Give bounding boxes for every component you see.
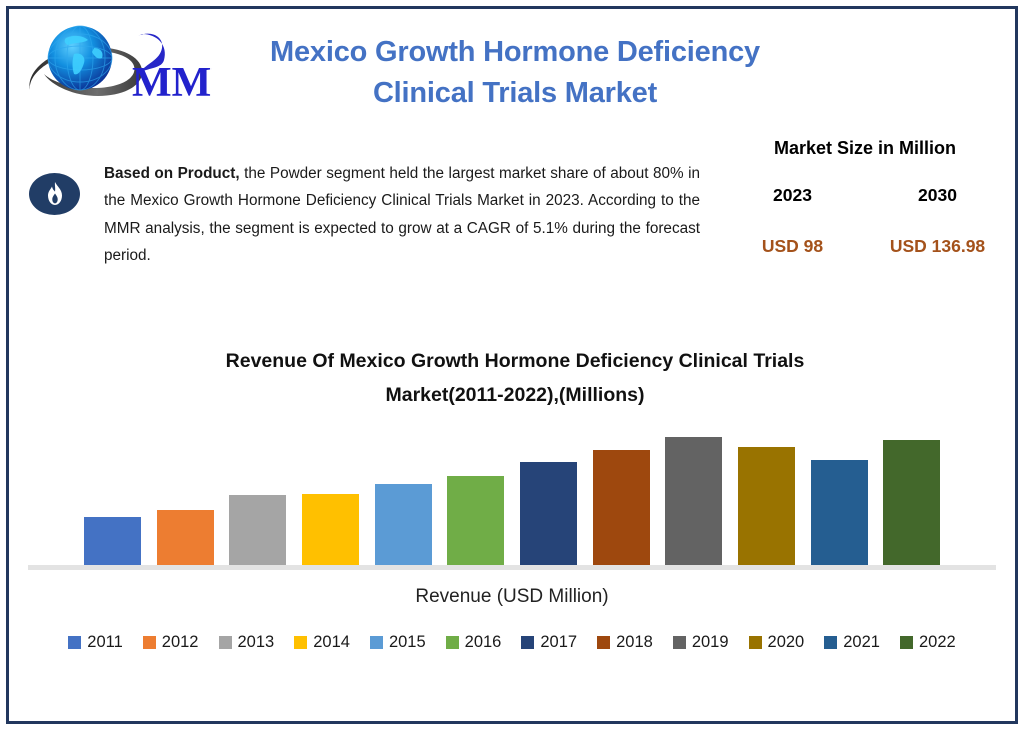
legend-label: 2013 — [238, 633, 275, 652]
legend-label: 2018 — [616, 633, 653, 652]
market-size-column-2030: 2030 USD 136.98 — [865, 185, 1010, 257]
bar-2014[interactable] — [302, 494, 359, 565]
bar-slot — [585, 430, 658, 565]
bar-slot — [875, 430, 948, 565]
legend-swatch-icon — [824, 636, 837, 649]
chart-title-line2: Market(2011-2022),(Millions) — [120, 379, 910, 413]
infographic-page: MMR Mexico Growth Hormone Deficiency Cli… — [0, 0, 1024, 730]
legend-label: 2012 — [162, 633, 199, 652]
legend-swatch-icon — [673, 636, 686, 649]
bar-slot — [294, 430, 367, 565]
chart-title: Revenue Of Mexico Growth Hormone Deficie… — [120, 345, 910, 412]
market-size-column-2023: 2023 USD 98 — [720, 185, 865, 257]
bar-slot — [657, 430, 730, 565]
bar-2011[interactable] — [84, 517, 141, 565]
flame-glyph — [44, 181, 66, 207]
page-title: Mexico Growth Hormone Deficiency Clinica… — [232, 32, 798, 114]
bar-2019[interactable] — [665, 437, 722, 565]
page-title-line1: Mexico Growth Hormone Deficiency — [232, 32, 798, 73]
legend-item-2020[interactable]: 2020 — [749, 633, 805, 652]
chart-x-axis-label: Revenue (USD Million) — [0, 586, 1024, 608]
chart-title-line1: Revenue Of Mexico Growth Hormone Deficie… — [120, 345, 910, 379]
bar-series — [28, 430, 996, 565]
bar-slot — [512, 430, 585, 565]
globe-swoosh-icon: MMR — [22, 18, 212, 114]
legend-label: 2021 — [843, 633, 880, 652]
bar-2015[interactable] — [375, 484, 432, 565]
bar-chart-plot — [28, 430, 996, 570]
bar-slot — [730, 430, 803, 565]
legend-swatch-icon — [900, 636, 913, 649]
market-size-heading: Market Size in Million — [720, 138, 1010, 159]
legend-swatch-icon — [749, 636, 762, 649]
legend-swatch-icon — [597, 636, 610, 649]
legend-item-2011[interactable]: 2011 — [68, 633, 122, 652]
legend-swatch-icon — [219, 636, 232, 649]
legend-swatch-icon — [370, 636, 383, 649]
legend-item-2012[interactable]: 2012 — [143, 633, 199, 652]
bar-2021[interactable] — [811, 460, 868, 565]
legend-swatch-icon — [294, 636, 307, 649]
legend-item-2015[interactable]: 2015 — [370, 633, 426, 652]
legend-item-2019[interactable]: 2019 — [673, 633, 729, 652]
bar-slot — [439, 430, 512, 565]
bar-slot — [367, 430, 440, 565]
bar-slot — [149, 430, 222, 565]
legend-swatch-icon — [446, 636, 459, 649]
legend-item-2016[interactable]: 2016 — [446, 633, 502, 652]
legend-swatch-icon — [143, 636, 156, 649]
bar-2012[interactable] — [157, 510, 214, 565]
bar-2013[interactable] — [229, 495, 286, 565]
legend-label: 2011 — [87, 633, 122, 652]
bar-2018[interactable] — [593, 450, 650, 565]
bar-2020[interactable] — [738, 447, 795, 565]
bar-2022[interactable] — [883, 440, 940, 565]
legend-item-2021[interactable]: 2021 — [824, 633, 880, 652]
flame-icon — [29, 173, 80, 215]
legend-item-2022[interactable]: 2022 — [900, 633, 956, 652]
legend-label: 2016 — [465, 633, 502, 652]
legend-item-2013[interactable]: 2013 — [219, 633, 275, 652]
legend-label: 2022 — [919, 633, 956, 652]
legend-label: 2014 — [313, 633, 350, 652]
market-size-block: Market Size in Million 2023 USD 98 2030 … — [720, 138, 1010, 257]
bar-2017[interactable] — [520, 462, 577, 566]
chart-legend: 2011201220132014201520162017201820192020… — [0, 633, 1024, 652]
market-size-columns: 2023 USD 98 2030 USD 136.98 — [720, 185, 1010, 257]
legend-item-2017[interactable]: 2017 — [521, 633, 577, 652]
bar-slot — [76, 430, 149, 565]
market-size-year: 2030 — [865, 185, 1010, 206]
legend-item-2014[interactable]: 2014 — [294, 633, 350, 652]
logo-wordmark: MMR — [132, 60, 212, 106]
legend-swatch-icon — [521, 636, 534, 649]
legend-item-2018[interactable]: 2018 — [597, 633, 653, 652]
header: MMR Mexico Growth Hormone Deficiency Cli… — [0, 8, 1024, 120]
legend-label: 2019 — [692, 633, 729, 652]
market-size-value: USD 136.98 — [865, 236, 1010, 257]
legend-swatch-icon — [68, 636, 81, 649]
mmr-logo: MMR — [22, 18, 212, 114]
intro-lead: Based on Product, — [104, 165, 240, 182]
chart-axis-line — [28, 565, 996, 570]
market-size-value: USD 98 — [720, 236, 865, 257]
legend-label: 2017 — [540, 633, 577, 652]
market-size-year: 2023 — [720, 185, 865, 206]
bar-2016[interactable] — [447, 476, 504, 565]
legend-label: 2020 — [768, 633, 805, 652]
intro-paragraph: Based on Product, the Powder segment hel… — [104, 160, 700, 270]
page-title-line2: Clinical Trials Market — [232, 73, 798, 114]
bar-slot — [803, 430, 876, 565]
bar-slot — [221, 430, 294, 565]
legend-label: 2015 — [389, 633, 426, 652]
